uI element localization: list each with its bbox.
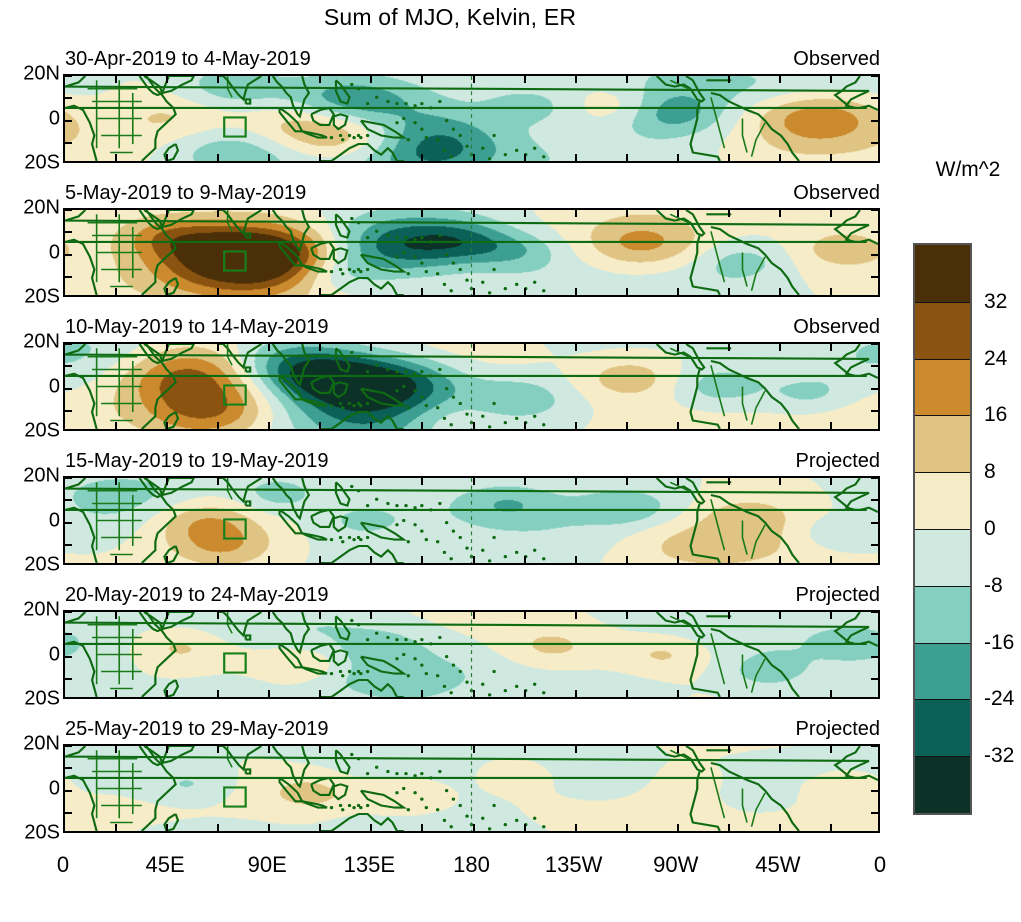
y-tick — [65, 611, 72, 613]
coastline-overlay — [65, 344, 878, 429]
x-tick — [166, 288, 168, 295]
coastline — [711, 361, 799, 429]
x-tick — [779, 210, 781, 217]
x-tick — [421, 76, 423, 83]
map-panel[interactable]: 5-May-2019 to 9-May-2019Observed20N020S — [63, 208, 880, 297]
coastline — [691, 102, 720, 162]
island-marker — [445, 119, 448, 122]
map-panel[interactable]: 20-May-2019 to 24-May-2019Projected20N02… — [63, 610, 880, 699]
island-marker — [404, 370, 407, 373]
island-marker — [341, 138, 344, 141]
x-tick — [779, 288, 781, 295]
island-marker — [438, 636, 441, 639]
island-marker — [481, 415, 484, 418]
y-tick — [65, 209, 72, 211]
x-tick — [728, 746, 730, 753]
island-marker — [413, 121, 416, 124]
coastline — [691, 236, 720, 296]
island-marker — [420, 663, 423, 666]
y-tick — [871, 499, 878, 501]
island-marker — [330, 270, 333, 273]
panel-plot-area[interactable] — [63, 342, 880, 431]
coastline — [302, 131, 327, 137]
island-marker — [395, 772, 398, 775]
border-line — [711, 231, 725, 282]
island-marker — [429, 106, 432, 109]
x-tick — [473, 556, 475, 563]
island-marker — [420, 772, 423, 775]
coastline — [336, 214, 350, 237]
y-tick — [65, 142, 72, 144]
x-tick — [575, 422, 577, 429]
island-marker — [395, 389, 398, 392]
island-marker — [366, 268, 369, 271]
y-axis-label: 20N — [2, 733, 60, 756]
x-tick — [370, 556, 372, 563]
x-tick — [626, 422, 628, 429]
island-marker — [366, 402, 369, 405]
x-tick — [779, 76, 781, 83]
coastline — [273, 478, 309, 518]
border-line — [742, 119, 747, 153]
panel-title: 30-Apr-2019 to 4-May-2019 — [65, 48, 311, 71]
y-axis-label: 20S — [2, 554, 60, 577]
border-line — [752, 123, 766, 157]
island-marker — [359, 136, 362, 139]
island-marker — [341, 272, 344, 275]
x-tick — [626, 690, 628, 697]
island-marker — [542, 289, 545, 292]
border-line — [752, 391, 766, 425]
x-tick — [779, 690, 781, 697]
x-tick — [166, 76, 168, 83]
island-marker — [395, 638, 398, 641]
coastline — [65, 210, 869, 295]
x-tick — [677, 344, 679, 351]
x-tick — [524, 612, 526, 619]
x-tick — [677, 76, 679, 83]
x-tick — [728, 76, 730, 83]
x-tick — [370, 824, 372, 831]
x-tick — [677, 824, 679, 831]
x-tick — [115, 288, 117, 295]
island-marker — [413, 238, 416, 241]
island-marker — [488, 291, 491, 294]
island-marker — [341, 808, 344, 811]
x-tick — [728, 612, 730, 619]
island-marker — [330, 806, 333, 809]
island-marker — [395, 657, 398, 660]
coastline — [302, 801, 327, 807]
x-tick — [677, 288, 679, 295]
island-marker — [402, 787, 405, 790]
y-axis-label: 0 — [2, 777, 60, 800]
coastline — [336, 616, 350, 639]
x-tick — [728, 556, 730, 563]
x-tick — [677, 556, 679, 563]
colorbar-tick-label: -32 — [984, 744, 1014, 768]
coastline — [334, 114, 348, 129]
island-marker — [420, 370, 423, 373]
x-axis-label: 135W — [545, 852, 602, 878]
island-marker — [352, 136, 355, 139]
island-marker — [366, 772, 369, 775]
y-tick — [65, 410, 72, 412]
x-tick — [473, 612, 475, 619]
coastline — [246, 233, 250, 237]
y-tick — [871, 142, 878, 144]
island-marker — [352, 270, 355, 273]
island-marker — [515, 417, 518, 420]
y-tick — [871, 365, 878, 367]
island-marker — [350, 753, 353, 756]
x-tick — [728, 690, 730, 697]
coastline — [246, 635, 250, 639]
panel-plot-area[interactable] — [63, 476, 880, 565]
island-marker — [386, 636, 389, 639]
island-marker — [341, 406, 344, 409]
island-marker — [465, 278, 468, 281]
island-marker — [402, 117, 405, 120]
x-tick — [319, 154, 321, 161]
island-marker — [492, 804, 495, 807]
panel-status-label: Observed — [793, 316, 880, 339]
x-tick — [575, 210, 577, 217]
map-panel[interactable]: 15-May-2019 to 19-May-2019Projected20N02… — [63, 476, 880, 565]
border-line — [742, 521, 747, 555]
island-marker — [445, 521, 448, 524]
x-tick — [217, 690, 219, 697]
island-marker — [339, 268, 342, 271]
island-marker — [341, 674, 344, 677]
x-tick — [370, 288, 372, 295]
y-tick — [65, 633, 72, 635]
x-tick — [370, 690, 372, 697]
y-axis: 20N020S — [0, 208, 60, 297]
island-marker — [450, 289, 453, 292]
x-tick — [524, 154, 526, 161]
x-tick — [268, 556, 270, 563]
x-tick — [473, 478, 475, 485]
y-tick — [871, 231, 878, 233]
y-tick — [65, 544, 72, 546]
panel-plot-area[interactable] — [63, 744, 880, 833]
island-marker — [450, 423, 453, 426]
coastline — [691, 370, 720, 430]
border-line — [742, 387, 747, 421]
x-tick — [217, 422, 219, 429]
x-tick — [370, 76, 372, 83]
x-tick — [575, 344, 577, 351]
panel-plot-area[interactable] — [63, 610, 880, 699]
island-marker — [359, 806, 362, 809]
x-tick — [473, 210, 475, 217]
island-marker — [330, 404, 333, 407]
island-marker — [436, 674, 439, 677]
island-marker — [425, 404, 428, 407]
island-marker — [386, 368, 389, 371]
island-marker — [436, 540, 439, 543]
coastline — [311, 242, 334, 259]
x-tick — [268, 478, 270, 485]
island-marker — [438, 368, 441, 371]
figure-title: Sum of MJO, Kelvin, ER — [0, 4, 900, 31]
island-marker — [533, 817, 536, 820]
island-marker — [452, 127, 455, 130]
coastline — [336, 750, 350, 773]
colorbar-tick-label: -8 — [984, 574, 1003, 598]
colorbar-tick-label: 8 — [984, 460, 996, 484]
colorbar-band[interactable] — [915, 415, 970, 472]
y-axis-label: 20N — [2, 63, 60, 86]
coastline — [835, 76, 878, 110]
island-marker — [425, 136, 428, 139]
y-tick — [871, 745, 878, 747]
island-marker — [330, 672, 333, 675]
x-axis-label: 0 — [57, 852, 69, 878]
colorbar[interactable] — [913, 243, 972, 815]
island-marker — [404, 102, 407, 105]
border-line — [711, 633, 725, 684]
x-tick — [575, 746, 577, 753]
x-tick — [421, 690, 423, 697]
coastline — [657, 478, 704, 504]
x-tick — [524, 422, 526, 429]
island-marker — [395, 236, 398, 239]
panel-plot-area[interactable] — [63, 208, 880, 297]
island-marker — [504, 823, 507, 826]
x-tick — [370, 612, 372, 619]
colorbar-band[interactable] — [915, 699, 970, 756]
y-axis-label: 0 — [2, 107, 60, 130]
x-tick — [319, 478, 321, 485]
island-marker — [504, 689, 507, 692]
island-marker — [366, 102, 369, 105]
colorbar-band[interactable] — [915, 302, 970, 359]
coastline-overlay — [65, 76, 878, 161]
island-marker — [425, 672, 428, 675]
island-marker — [366, 536, 369, 539]
island-marker — [533, 683, 536, 686]
x-tick — [575, 288, 577, 295]
island-marker — [488, 157, 491, 160]
coastline-overlay — [65, 746, 878, 831]
island-marker — [443, 819, 446, 822]
island-marker — [488, 693, 491, 696]
y-axis-label: 0 — [2, 241, 60, 264]
y-tick — [871, 97, 878, 99]
y-tick — [871, 611, 878, 613]
island-marker — [492, 268, 495, 271]
map-panel[interactable]: 10-May-2019 to 14-May-2019Observed20N020… — [63, 342, 880, 431]
coastline — [280, 644, 303, 667]
x-tick — [421, 824, 423, 831]
panel-status-label: Projected — [796, 450, 881, 473]
y-tick — [65, 365, 72, 367]
island-marker — [488, 827, 491, 830]
coastline — [280, 376, 303, 399]
x-tick — [575, 154, 577, 161]
x-tick — [524, 210, 526, 217]
colorbar-tick-label: -16 — [984, 631, 1014, 655]
island-marker — [366, 134, 369, 137]
island-marker — [350, 619, 353, 622]
coastline — [246, 501, 250, 505]
coastline — [657, 210, 704, 236]
coastline — [273, 344, 309, 384]
x-tick — [626, 612, 628, 619]
x-tick — [268, 288, 270, 295]
colorbar-band[interactable] — [915, 529, 970, 586]
region-box-marker — [224, 251, 245, 270]
y-tick — [65, 231, 72, 233]
island-marker — [438, 502, 441, 505]
coastline — [311, 376, 334, 393]
x-tick — [830, 422, 832, 429]
x-tick — [319, 210, 321, 217]
island-marker — [402, 653, 405, 656]
x-tick — [319, 288, 321, 295]
coastline — [65, 612, 869, 697]
island-marker — [359, 538, 362, 541]
island-marker — [366, 670, 369, 673]
x-tick — [626, 76, 628, 83]
panel-plot-area[interactable] — [63, 74, 880, 163]
island-marker — [429, 642, 432, 645]
x-tick — [830, 556, 832, 563]
x-tick — [217, 210, 219, 217]
y-tick — [65, 812, 72, 814]
colorbar-band[interactable] — [915, 756, 970, 813]
map-panel[interactable]: 25-May-2019 to 29-May-2019Projected20N02… — [63, 744, 880, 833]
coastline — [65, 746, 869, 831]
island-marker — [348, 536, 351, 539]
x-tick — [626, 478, 628, 485]
x-tick — [268, 422, 270, 429]
island-marker — [504, 287, 507, 290]
island-marker — [413, 640, 416, 643]
y-axis-label: 20S — [2, 420, 60, 443]
island-marker — [330, 136, 333, 139]
colorbar-title: W/m^2 — [913, 158, 1021, 182]
colorbar-band[interactable] — [915, 359, 970, 416]
colorbar-band[interactable] — [915, 643, 970, 700]
x-tick — [217, 824, 219, 831]
region-box-marker — [224, 519, 245, 538]
coastline — [320, 412, 404, 429]
island-marker — [445, 387, 448, 390]
x-tick — [421, 288, 423, 295]
x-tick — [370, 210, 372, 217]
x-tick — [524, 746, 526, 753]
island-marker — [504, 153, 507, 156]
y-axis: 20N020S — [0, 74, 60, 163]
x-tick — [728, 478, 730, 485]
island-marker — [395, 102, 398, 105]
border-line — [742, 789, 747, 823]
x-tick — [421, 556, 423, 563]
island-marker — [404, 504, 407, 507]
colorbar-band[interactable] — [915, 586, 970, 643]
region-box-marker — [224, 653, 245, 672]
panel-status-label: Projected — [796, 718, 881, 741]
x-tick — [779, 824, 781, 831]
island-marker — [395, 255, 398, 258]
x-tick — [830, 690, 832, 697]
island-marker — [402, 519, 405, 522]
x-tick — [779, 344, 781, 351]
panel-title: 20-May-2019 to 24-May-2019 — [65, 584, 328, 607]
coastline — [280, 242, 303, 265]
coastline — [302, 265, 327, 271]
colorbar-band[interactable] — [915, 245, 970, 302]
x-tick — [268, 612, 270, 619]
x-tick — [677, 210, 679, 217]
border-line — [752, 257, 766, 291]
island-marker — [420, 127, 423, 130]
island-marker — [443, 149, 446, 152]
coastline — [336, 348, 350, 371]
coastline — [711, 629, 799, 697]
island-marker — [407, 540, 410, 543]
island-marker — [438, 234, 441, 237]
x-tick — [217, 344, 219, 351]
y-tick — [65, 499, 72, 501]
colorbar-band[interactable] — [915, 472, 970, 529]
region-box-marker — [224, 787, 245, 806]
x-tick — [319, 612, 321, 619]
panel-title: 25-May-2019 to 29-May-2019 — [65, 718, 328, 741]
x-tick — [268, 824, 270, 831]
island-marker — [515, 149, 518, 152]
island-marker — [350, 217, 353, 220]
panel-status-label: Projected — [796, 584, 881, 607]
island-marker — [445, 789, 448, 792]
y-tick — [871, 209, 878, 211]
map-panel[interactable]: 30-Apr-2019 to 4-May-2019Observed20N020S — [63, 74, 880, 163]
island-marker — [488, 559, 491, 562]
x-tick — [166, 556, 168, 563]
island-marker — [492, 402, 495, 405]
island-marker — [429, 240, 432, 243]
island-marker — [407, 272, 410, 275]
island-marker — [452, 261, 455, 264]
x-tick — [473, 76, 475, 83]
coastline — [711, 495, 799, 563]
x-tick — [370, 344, 372, 351]
island-marker — [395, 523, 398, 526]
border-line — [752, 659, 766, 693]
x-tick — [421, 422, 423, 429]
island-marker — [504, 555, 507, 558]
y-tick — [65, 477, 72, 479]
coastline — [246, 367, 250, 371]
coastline — [657, 746, 704, 772]
coastline — [334, 248, 348, 263]
coastline — [273, 210, 309, 250]
island-marker — [420, 395, 423, 398]
x-tick — [166, 210, 168, 217]
island-marker — [386, 100, 389, 103]
x-tick — [115, 422, 117, 429]
y-axis-label: 20S — [2, 688, 60, 711]
y-axis-label: 20S — [2, 152, 60, 175]
coastline — [835, 344, 878, 378]
x-tick — [115, 556, 117, 563]
x-tick — [217, 556, 219, 563]
y-tick — [871, 254, 878, 256]
coastline-overlay — [65, 612, 878, 697]
